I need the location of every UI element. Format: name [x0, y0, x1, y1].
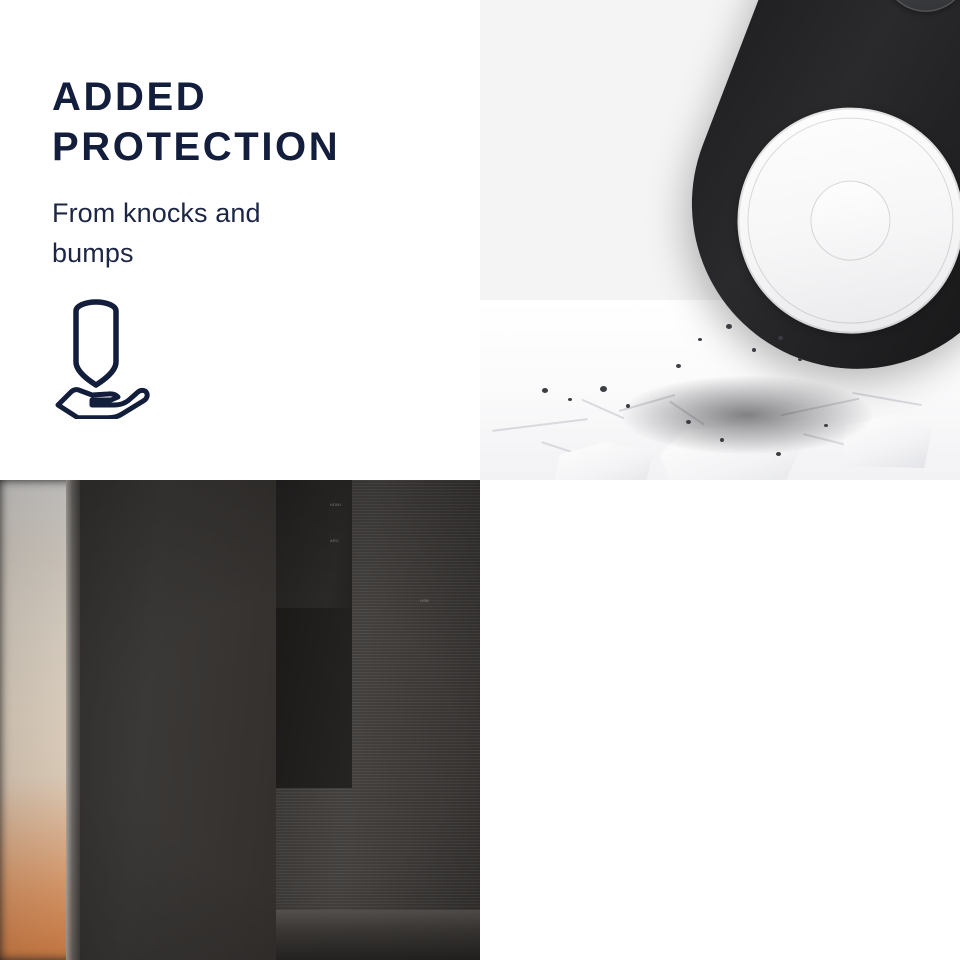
- debris: [798, 358, 802, 361]
- debris: [726, 324, 732, 329]
- debris: [824, 424, 828, 427]
- impact-shadow: [622, 376, 872, 454]
- debris: [776, 452, 781, 456]
- tv-rear-bezel: [80, 480, 280, 960]
- debris: [626, 404, 630, 408]
- debris: [778, 336, 783, 340]
- tv-port-label: ARC: [330, 538, 339, 543]
- debris: [542, 388, 548, 393]
- assistant-button: [870, 0, 960, 24]
- dpad-ring: [704, 75, 960, 367]
- panel-remote-impact-photo: [480, 0, 960, 480]
- debris: [752, 348, 756, 352]
- debris: [568, 398, 572, 401]
- protection-headline: ADDED PROTECTION: [52, 72, 460, 172]
- remote-impact-scene: [480, 0, 960, 480]
- debris: [676, 364, 681, 368]
- feature-grid: ADDED PROTECTION From knocks and bumps: [0, 0, 960, 960]
- protection-subline: From knocks and bumps: [52, 193, 460, 273]
- panel-added-protection: ADDED PROTECTION From knocks and bumps: [0, 0, 480, 480]
- panel-silicone-cover: SILICONE COVER Shields device from scrat…: [480, 480, 960, 960]
- debris: [600, 386, 607, 392]
- panel-tv-mount-photo: HDMI ARC USB G: [0, 480, 480, 960]
- debris: [698, 338, 702, 341]
- debris: [686, 420, 691, 424]
- shield-in-hand-icon: [52, 299, 460, 424]
- tv-port-label: HDMI: [330, 502, 341, 507]
- assistant-dot: [912, 0, 940, 3]
- tv-port-label: USB: [420, 598, 429, 603]
- tv-port-recess-inner: [276, 608, 352, 788]
- debris: [720, 438, 724, 442]
- tv-lower-rear-panel: [276, 910, 480, 960]
